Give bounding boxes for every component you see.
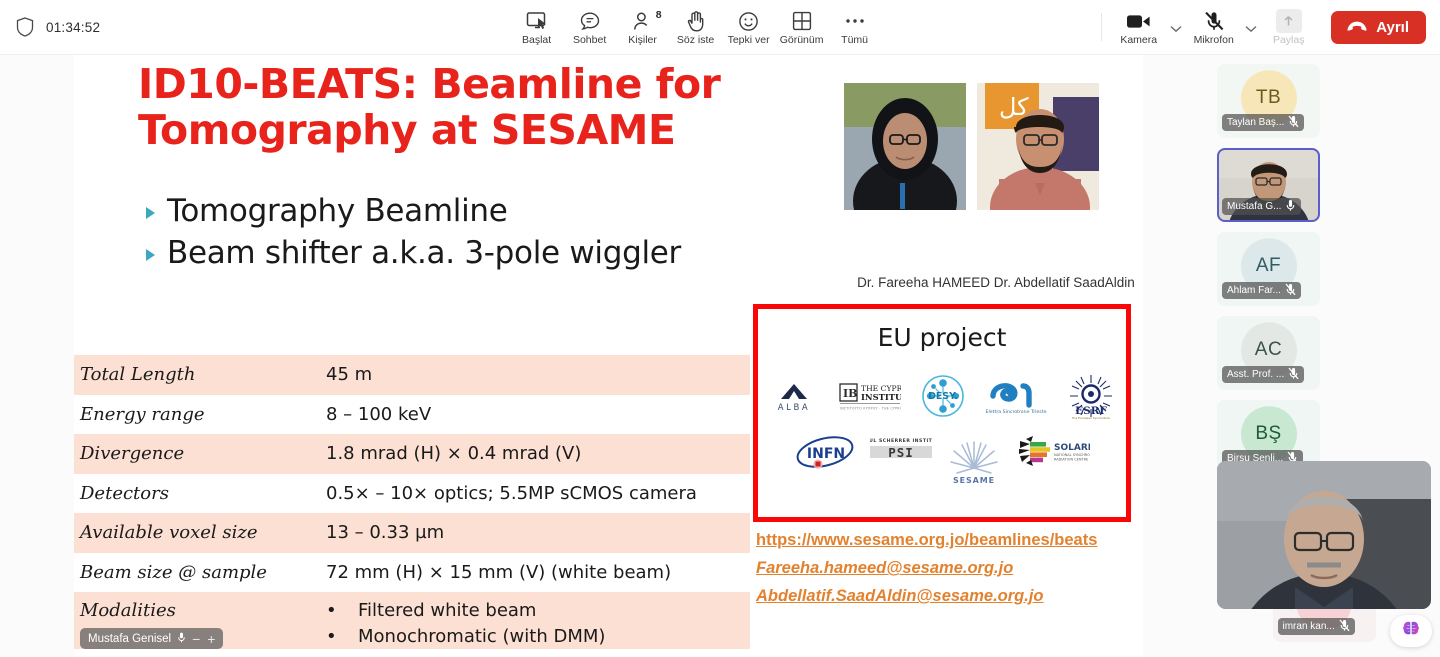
table-cell-key: Modalities <box>74 598 326 621</box>
svg-text:INSTITUTE: INSTITUTE <box>861 392 901 402</box>
logo-elettra: Elettra Sincrotrone Trieste <box>985 376 1047 416</box>
table-row: Available voxel size 13 – 0.33 µm <box>74 513 750 553</box>
table-cell-value: 13 – 0.33 µm <box>326 522 750 543</box>
share-screen-button[interactable]: Başlat <box>510 8 563 46</box>
modality-label: Monochromatic (with DMM) <box>358 624 605 650</box>
table-cell-key: Available voxel size <box>74 522 326 543</box>
triangle-bullet-icon <box>146 207 155 219</box>
participant-tile-ahy-video[interactable]: AHY <box>1217 461 1431 609</box>
participant-filmstrip: TB Taylan Baş... <box>1208 55 1440 657</box>
upload-arrow-icon <box>1276 10 1302 32</box>
video-camera-icon <box>1126 10 1152 32</box>
table-cell-key: Beam size @ sample <box>74 562 326 583</box>
camera-button[interactable]: Kamera <box>1112 8 1165 46</box>
participant-video <box>1217 461 1431 609</box>
shared-content-stage: ID10-BEATS: Beamline for Tomography at S… <box>0 55 1205 657</box>
zoom-out-button[interactable]: − <box>192 631 200 647</box>
microphone-muted-icon <box>1203 10 1225 32</box>
bullet-text: Beam shifter a.k.a. 3-pole wiggler <box>167 235 681 272</box>
participant-tile-mustafa-g[interactable]: Mustafa G... <box>1217 148 1320 222</box>
logo-infn: INFN <box>794 435 856 469</box>
list-item: Tomography Beamline <box>146 193 936 230</box>
eu-project-title: EU project <box>758 323 1126 352</box>
leave-call-button[interactable]: Ayrıl <box>1331 11 1426 44</box>
list-item: • Monochromatic (with DMM) <box>326 624 750 650</box>
svg-text:SESAME: SESAME <box>953 476 995 485</box>
meeting-window: 01:34:52 Başlat Sohbet 8 Kişil <box>0 0 1440 657</box>
raise-hand-button[interactable]: Söz iste <box>669 8 722 46</box>
svg-text:RADIATION CENTRE: RADIATION CENTRE <box>1054 458 1088 462</box>
table-row: Total Length 45 m <box>74 355 750 395</box>
presenter-name-label: Mustafa Genisel <box>88 633 171 645</box>
table-row: Energy range 8 – 100 keV <box>74 395 750 435</box>
avatar-initials: AC <box>1255 339 1282 361</box>
logo-psi: PAUL SCHERRER INSTITUT PSI <box>870 435 932 465</box>
table-cell-key: Energy range <box>74 404 326 425</box>
slide-links: https://www.sesame.org.jo/beamlines/beat… <box>756 531 1097 615</box>
layout-grid-icon <box>792 10 812 32</box>
microphone-muted-icon <box>1288 115 1299 131</box>
ai-assistant-button[interactable] <box>1390 615 1432 647</box>
toolbar-actions: Başlat Sohbet 8 Kişiler Söz iste <box>300 8 1091 46</box>
triangle-bullet-icon <box>146 249 155 261</box>
participant-name-pill: Mustafa G... <box>1222 198 1301 215</box>
microphone-muted-icon <box>1285 283 1296 299</box>
participant-name-pill: imran kan... <box>1278 618 1355 635</box>
svg-text:PAUL SCHERRER INSTITUT: PAUL SCHERRER INSTITUT <box>870 438 932 444</box>
participant-tile-ahlam-far[interactable]: AF Ahlam Far... <box>1217 232 1320 306</box>
table-cell-value: 72 mm (H) × 15 mm (V) (white beam) <box>326 562 750 583</box>
chat-label: Sohbet <box>573 34 606 46</box>
svg-text:NATIONAL SYNCHROTRON: NATIONAL SYNCHROTRON <box>1054 453 1090 457</box>
chat-button[interactable]: Sohbet <box>563 8 616 46</box>
microphone-icon <box>178 632 185 646</box>
share-content-label: Paylaş <box>1273 34 1305 46</box>
photo-fareeha-hameed <box>844 83 966 210</box>
svg-text:Elettra Sincrotrone Trieste: Elettra Sincrotrone Trieste <box>986 409 1047 415</box>
share-content-button[interactable]: Paylaş <box>1262 8 1315 46</box>
logo-cyprus-institute: IB THE CYPRUS INSTITUTE ΙΝΣΤΙΤΟΥΤΟ ΚΥΠΡΟ… <box>839 381 901 411</box>
participant-name: Asst. Prof. ... <box>1227 369 1284 380</box>
eu-project-box: EU project ALBA IB THE CYPRUS IN <box>753 304 1131 522</box>
share-screen-label: Başlat <box>522 34 551 46</box>
svg-text:The European Synchrotron: The European Synchrotron <box>1071 416 1111 420</box>
logo-solaris: SOLARIS NATIONAL SYNCHROTRON RADIATION C… <box>1016 435 1090 467</box>
presenter-name-chip: Mustafa Genisel − + <box>80 628 223 649</box>
people-count-badge: 8 <box>656 9 662 21</box>
table-row: Detectors 0.5× – 10× optics; 5.5MP sCMOS… <box>74 474 750 514</box>
link-email-abdellatif[interactable]: Abdellatif.SaadAldin@sesame.org.jo <box>756 587 1097 606</box>
people-button[interactable]: 8 Kişiler <box>616 8 669 46</box>
table-cell-key: Total Length <box>74 364 326 385</box>
photo-caption: Dr. Fareeha HAMEED Dr. Abdellatif SaadAl… <box>836 275 1143 290</box>
logo-sesame: SESAME <box>946 435 1002 485</box>
microphone-label: Mikrofon <box>1194 34 1234 46</box>
table-cell-key: Divergence <box>74 443 326 464</box>
svg-text:ALBA: ALBA <box>778 403 811 413</box>
table-cell-key: Detectors <box>74 483 326 504</box>
avatar-initials: BŞ <box>1255 423 1281 445</box>
shield-icon <box>16 17 34 37</box>
chat-bubble-icon <box>579 10 601 32</box>
photo-abdellatif-saadaldin: كل <box>977 83 1099 210</box>
ai-brain-icon <box>1401 620 1421 643</box>
bullet-dot-icon: • <box>326 598 332 624</box>
logo-alba: ALBA <box>769 379 819 413</box>
microphone-muted-icon <box>1339 619 1350 635</box>
raise-hand-icon <box>686 10 706 32</box>
more-button[interactable]: Tümü <box>828 8 881 46</box>
participant-name-pill: Asst. Prof. ... <box>1222 366 1304 383</box>
hangup-phone-icon <box>1346 19 1368 36</box>
beamline-spec-table: Total Length 45 m Energy range 8 – 100 k… <box>74 355 750 649</box>
microphone-icon <box>1285 199 1296 215</box>
leave-call-label: Ayrıl <box>1376 19 1409 36</box>
participant-tile-taylan-bas[interactable]: TB Taylan Baş... <box>1217 64 1320 138</box>
view-button[interactable]: Görünüm <box>775 8 828 46</box>
participant-tile-asst-prof[interactable]: AC Asst. Prof. ... <box>1217 316 1320 390</box>
camera-label: Kamera <box>1120 34 1157 46</box>
camera-options-chevron-down-icon[interactable] <box>1165 21 1187 33</box>
avatar-initials: TB <box>1256 87 1281 109</box>
toolbar-left: 01:34:52 <box>0 17 300 37</box>
microphone-button[interactable]: Mikrofon <box>1187 8 1240 46</box>
reactions-label: Tepki ver <box>728 34 770 46</box>
reactions-button[interactable]: Tepki ver <box>722 8 775 46</box>
svg-text:ΙΝΣΤΙΤΟΥΤΟ ΚΥΠΡΟΥ · THE CYPRUS: ΙΝΣΤΙΤΟΥΤΟ ΚΥΠΡΟΥ · THE CYPRUS INSTITUTE <box>840 407 901 411</box>
logo-desy: DESY. <box>921 374 965 418</box>
bullet-text: Tomography Beamline <box>167 193 508 230</box>
people-label: Kişiler <box>628 34 657 46</box>
presentation-slide[interactable]: ID10-BEATS: Beamline for Tomography at S… <box>74 55 1143 657</box>
microphone-options-chevron-down-icon[interactable] <box>1240 21 1262 33</box>
participant-name: Taylan Baş... <box>1227 117 1284 128</box>
recording-timer: 01:34:52 <box>46 20 100 35</box>
table-cell-value: 0.5× – 10× optics; 5.5MP sCMOS camera <box>326 483 750 504</box>
table-cell-value: 45 m <box>326 364 750 385</box>
svg-text:SOLARIS: SOLARIS <box>1054 443 1090 453</box>
list-item: • Filtered white beam <box>326 598 750 624</box>
eu-partner-logos-row-1: ALBA IB THE CYPRUS INSTITUTE ΙΝΣΤΙΤΟΥΤΟ … <box>758 372 1126 420</box>
meeting-toolbar: 01:34:52 Başlat Sohbet 8 Kişil <box>0 0 1440 55</box>
table-cell-value: 8 – 100 keV <box>326 404 750 425</box>
link-beamline-website[interactable]: https://www.sesame.org.jo/beamlines/beat… <box>756 531 1097 550</box>
svg-text:DESY.: DESY. <box>928 391 958 402</box>
table-row: Divergence 1.8 mrad (H) × 0.4 mrad (V) <box>74 434 750 474</box>
people-icon: 8 <box>633 10 653 32</box>
participant-name-pill: Ahlam Far... <box>1222 282 1301 299</box>
toolbar-divider <box>1101 13 1102 41</box>
raise-hand-label: Söz iste <box>677 34 714 46</box>
link-email-fareeha[interactable]: Fareeha.hameed@sesame.org.jo <box>756 559 1097 578</box>
svg-text:INFN: INFN <box>807 446 845 462</box>
avatar-initials: AF <box>1256 255 1281 277</box>
participant-name: imran kan... <box>1283 621 1335 632</box>
modality-label: Filtered white beam <box>358 598 536 624</box>
view-label: Görünüm <box>780 34 824 46</box>
slide-title: ID10-BEATS: Beamline for Tomography at S… <box>138 62 838 154</box>
more-label: Tümü <box>841 34 868 46</box>
bullet-dot-icon: • <box>326 624 332 650</box>
toolbar-right: Kamera Mikrofon Paylaş <box>1091 8 1440 46</box>
table-cell-value: • Filtered white beam • Monochromatic (w… <box>326 598 750 649</box>
smiley-reaction-icon <box>738 10 759 32</box>
more-ellipsis-icon <box>844 10 866 32</box>
slide-bullet-list: Tomography Beamline Beam shifter a.k.a. … <box>146 193 936 277</box>
svg-text:IB: IB <box>843 387 857 400</box>
microphone-muted-icon <box>1288 367 1299 383</box>
presenter-photos: كل <box>844 83 1099 210</box>
present-screen-icon <box>526 10 548 32</box>
svg-text:PSI: PSI <box>888 445 914 460</box>
table-row: Beam size @ sample 72 mm (H) × 15 mm (V)… <box>74 553 750 593</box>
table-cell-value: 1.8 mrad (H) × 0.4 mrad (V) <box>326 443 750 464</box>
logo-esrf: ESRF The European Synchrotron <box>1067 372 1115 420</box>
participant-name: Ahlam Far... <box>1227 285 1281 296</box>
participant-name: Mustafa G... <box>1227 201 1281 212</box>
eu-partner-logos-row-2: INFN PAUL SCHERRER INSTITUT PSI <box>758 435 1126 485</box>
participant-name-pill: Taylan Baş... <box>1222 114 1304 131</box>
list-item: Beam shifter a.k.a. 3-pole wiggler <box>146 235 936 272</box>
zoom-in-button[interactable]: + <box>207 631 215 647</box>
